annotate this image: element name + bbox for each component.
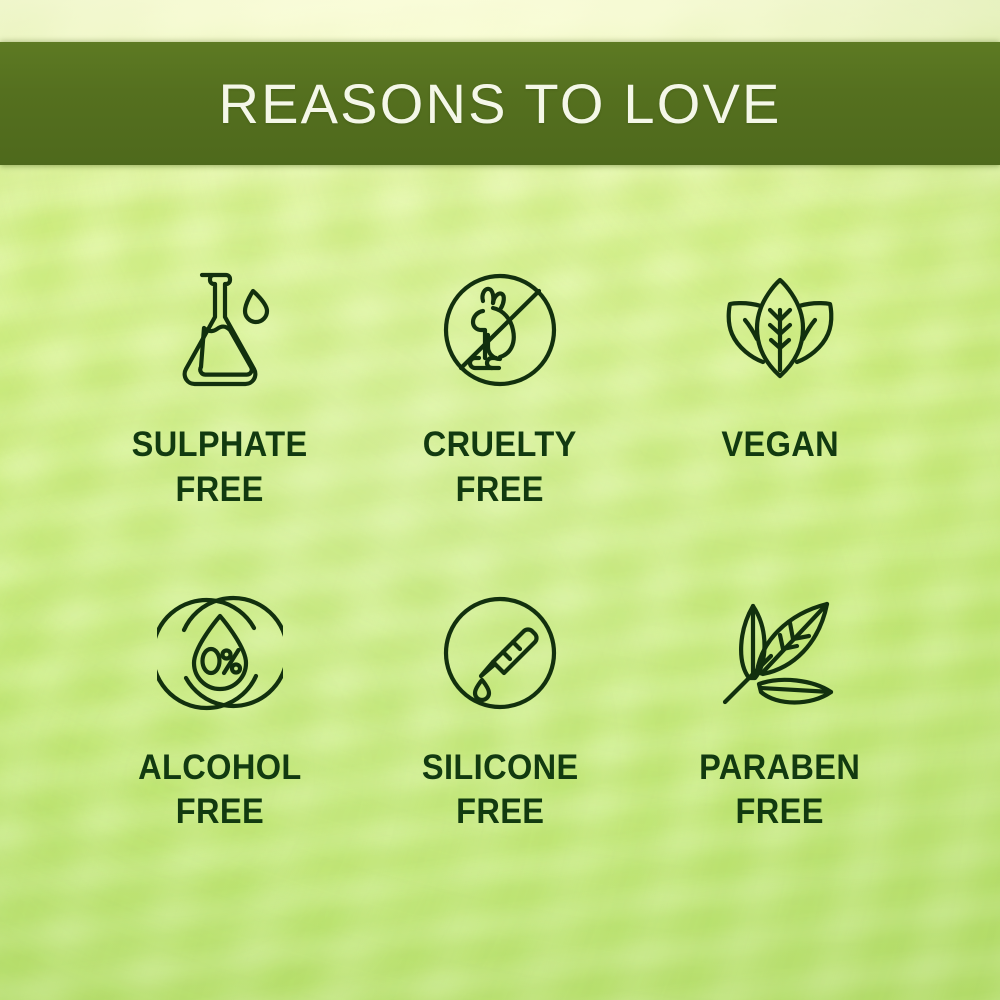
page-title: REASONS TO LOVE: [218, 76, 781, 132]
badge-label: SULPHATE FREE: [132, 423, 308, 513]
flask-droplet-icon: [155, 265, 285, 395]
badge-label-line1: PARABEN: [699, 748, 860, 787]
badge-silicone-free: SILICONE FREE: [375, 588, 625, 836]
no-rabbit-icon: [435, 265, 565, 395]
badge-label-line1: SILICONE: [422, 748, 579, 787]
badge-label-line1: CRUELTY: [423, 425, 577, 464]
benefits-row-2: ALCOHOL FREE: [95, 588, 905, 836]
badge-label-line1: VEGAN: [721, 425, 839, 464]
badge-label-line2: FREE: [422, 790, 579, 835]
three-leaves-icon: [715, 265, 845, 395]
badge-label-line2: FREE: [699, 790, 860, 835]
leaf-branch-icon: [715, 588, 845, 718]
badge-label: CRUELTY FREE: [423, 423, 577, 513]
badge-alcohol-free: ALCOHOL FREE: [95, 588, 345, 836]
badge-vegan: VEGAN: [655, 265, 905, 468]
badge-label-line1: SULPHATE: [132, 425, 308, 464]
badge-label: VEGAN: [721, 423, 839, 468]
badge-label: PARABEN FREE: [699, 746, 860, 836]
badge-label: ALCOHOL FREE: [138, 746, 302, 836]
badge-cruelty-free: CRUELTY FREE: [375, 265, 625, 513]
badge-label-line2: FREE: [138, 790, 302, 835]
badge-label-line2: FREE: [132, 468, 308, 513]
promo-graphic: REASONS TO LOVE SULPHATE: [0, 0, 1000, 1000]
badge-label-line2: FREE: [423, 468, 577, 513]
badge-label: SILICONE FREE: [422, 746, 579, 836]
header-banner: REASONS TO LOVE: [0, 42, 1000, 165]
badge-paraben-free: PARABEN FREE: [655, 588, 905, 836]
dropper-pipette-icon: [435, 588, 565, 718]
badge-label-line1: ALCOHOL: [138, 748, 302, 787]
badge-sulphate-free: SULPHATE FREE: [95, 265, 345, 513]
zero-percent-droplet-icon: [155, 588, 285, 718]
benefits-grid: SULPHATE FREE: [95, 265, 905, 835]
benefits-row-1: SULPHATE FREE: [95, 265, 905, 513]
